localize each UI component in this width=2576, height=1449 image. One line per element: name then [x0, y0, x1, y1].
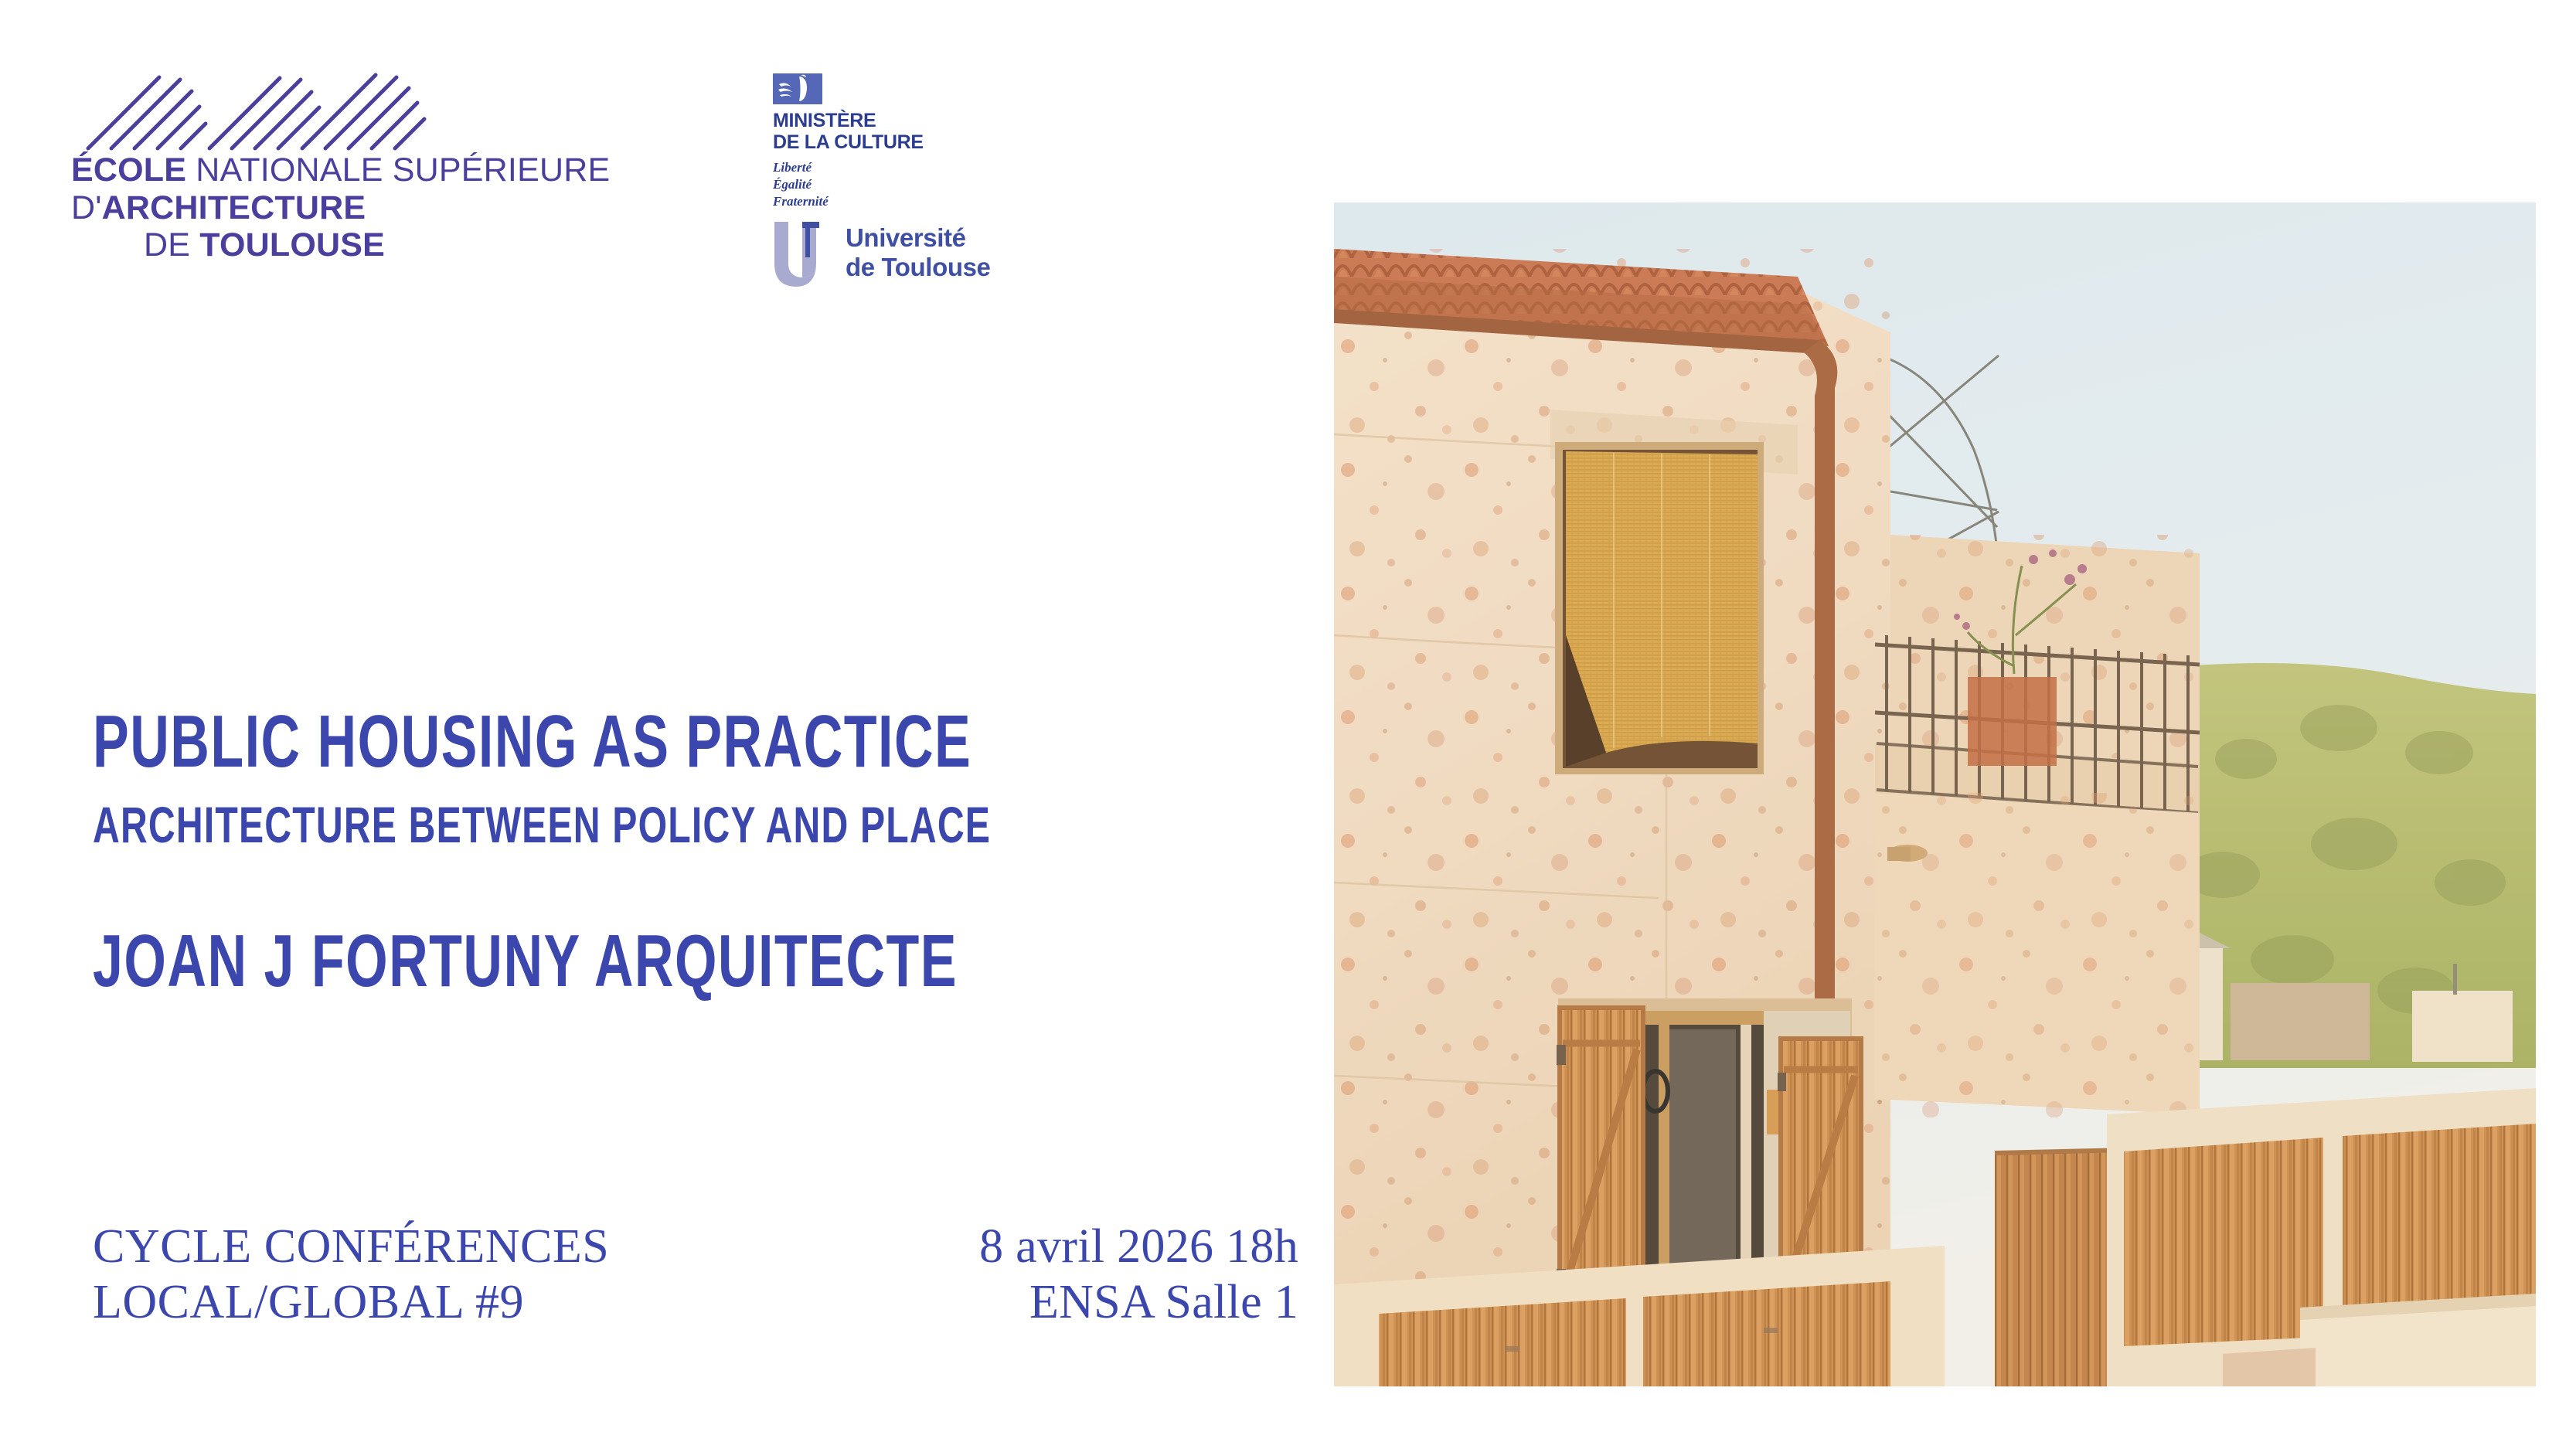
ensa-wordmark: ÉCOLE NATIONALE SUPÉRIEURE D'ARCHITECTUR… — [71, 151, 612, 264]
event-date: 8 avril 2026 18h — [979, 1219, 1298, 1275]
ut-line-de-toulouse: de Toulouse — [846, 253, 991, 282]
marianne-republique-francaise-mark-icon — [773, 73, 822, 104]
cycle-line-1: CYCLE CONFÉRENCES — [93, 1219, 609, 1275]
motto-fraternite: Fraternité — [773, 193, 1051, 210]
ensa-word-toulouse: TOULOUSE — [199, 226, 385, 264]
ensa-word-architecture: ARCHITECTURE — [102, 189, 366, 226]
ensa-word-de: DE — [144, 226, 190, 264]
lecture-title: PUBLIC HOUSING AS PRACTICE — [93, 705, 973, 779]
ministere-title-line-1: MINISTÈRE — [773, 110, 1051, 131]
cycle-label: CYCLE CONFÉRENCES LOCAL/GLOBAL #9 — [93, 1219, 609, 1331]
ministere-motto: Liberté Égalité Fraternité — [773, 159, 1051, 209]
lecture-subtitle: ARCHITECTURE BETWEEN POLICY AND PLACE — [93, 799, 973, 850]
motto-liberte: Liberté — [773, 159, 1051, 176]
stone-house-facade-with-wooden-shutters-photo — [1334, 202, 2536, 1386]
ensa-hatched-roofline-mark-icon — [82, 57, 437, 154]
event-details: 8 avril 2026 18h ENSA Salle 1 — [979, 1219, 1298, 1331]
ministere-wordmark: MINISTÈRE DE LA CULTURE — [773, 110, 1051, 153]
universite-de-toulouse-u-t-mark-icon — [771, 220, 835, 288]
ensa-word-nationale-superieure: NATIONALE SUPÉRIEURE — [196, 151, 610, 189]
ensa-word-d: D' — [71, 189, 102, 226]
motto-egalite: Égalité — [773, 176, 1051, 193]
ut-line-universite: Université — [846, 223, 991, 253]
speaker-name: JOAN J FORTUNY ARQUITECTE — [93, 924, 973, 998]
cycle-line-2: LOCAL/GLOBAL #9 — [93, 1275, 609, 1331]
ensa-word-ecole: ÉCOLE — [71, 151, 186, 189]
ministere-de-la-culture-logo: MINISTÈRE DE LA CULTURE Liberté Égalité … — [773, 73, 1051, 216]
universite-de-toulouse-logo: Université de Toulouse — [771, 220, 1096, 298]
universite-wordmark: Université de Toulouse — [846, 223, 991, 281]
event-venue: ENSA Salle 1 — [979, 1275, 1298, 1331]
ministere-title-line-2: DE LA CULTURE — [773, 131, 1051, 153]
title-block: PUBLIC HOUSING AS PRACTICE ARCHITECTURE … — [93, 705, 1298, 998]
ensa-toulouse-logo: ÉCOLE NATIONALE SUPÉRIEURE D'ARCHITECTUR… — [82, 57, 577, 281]
